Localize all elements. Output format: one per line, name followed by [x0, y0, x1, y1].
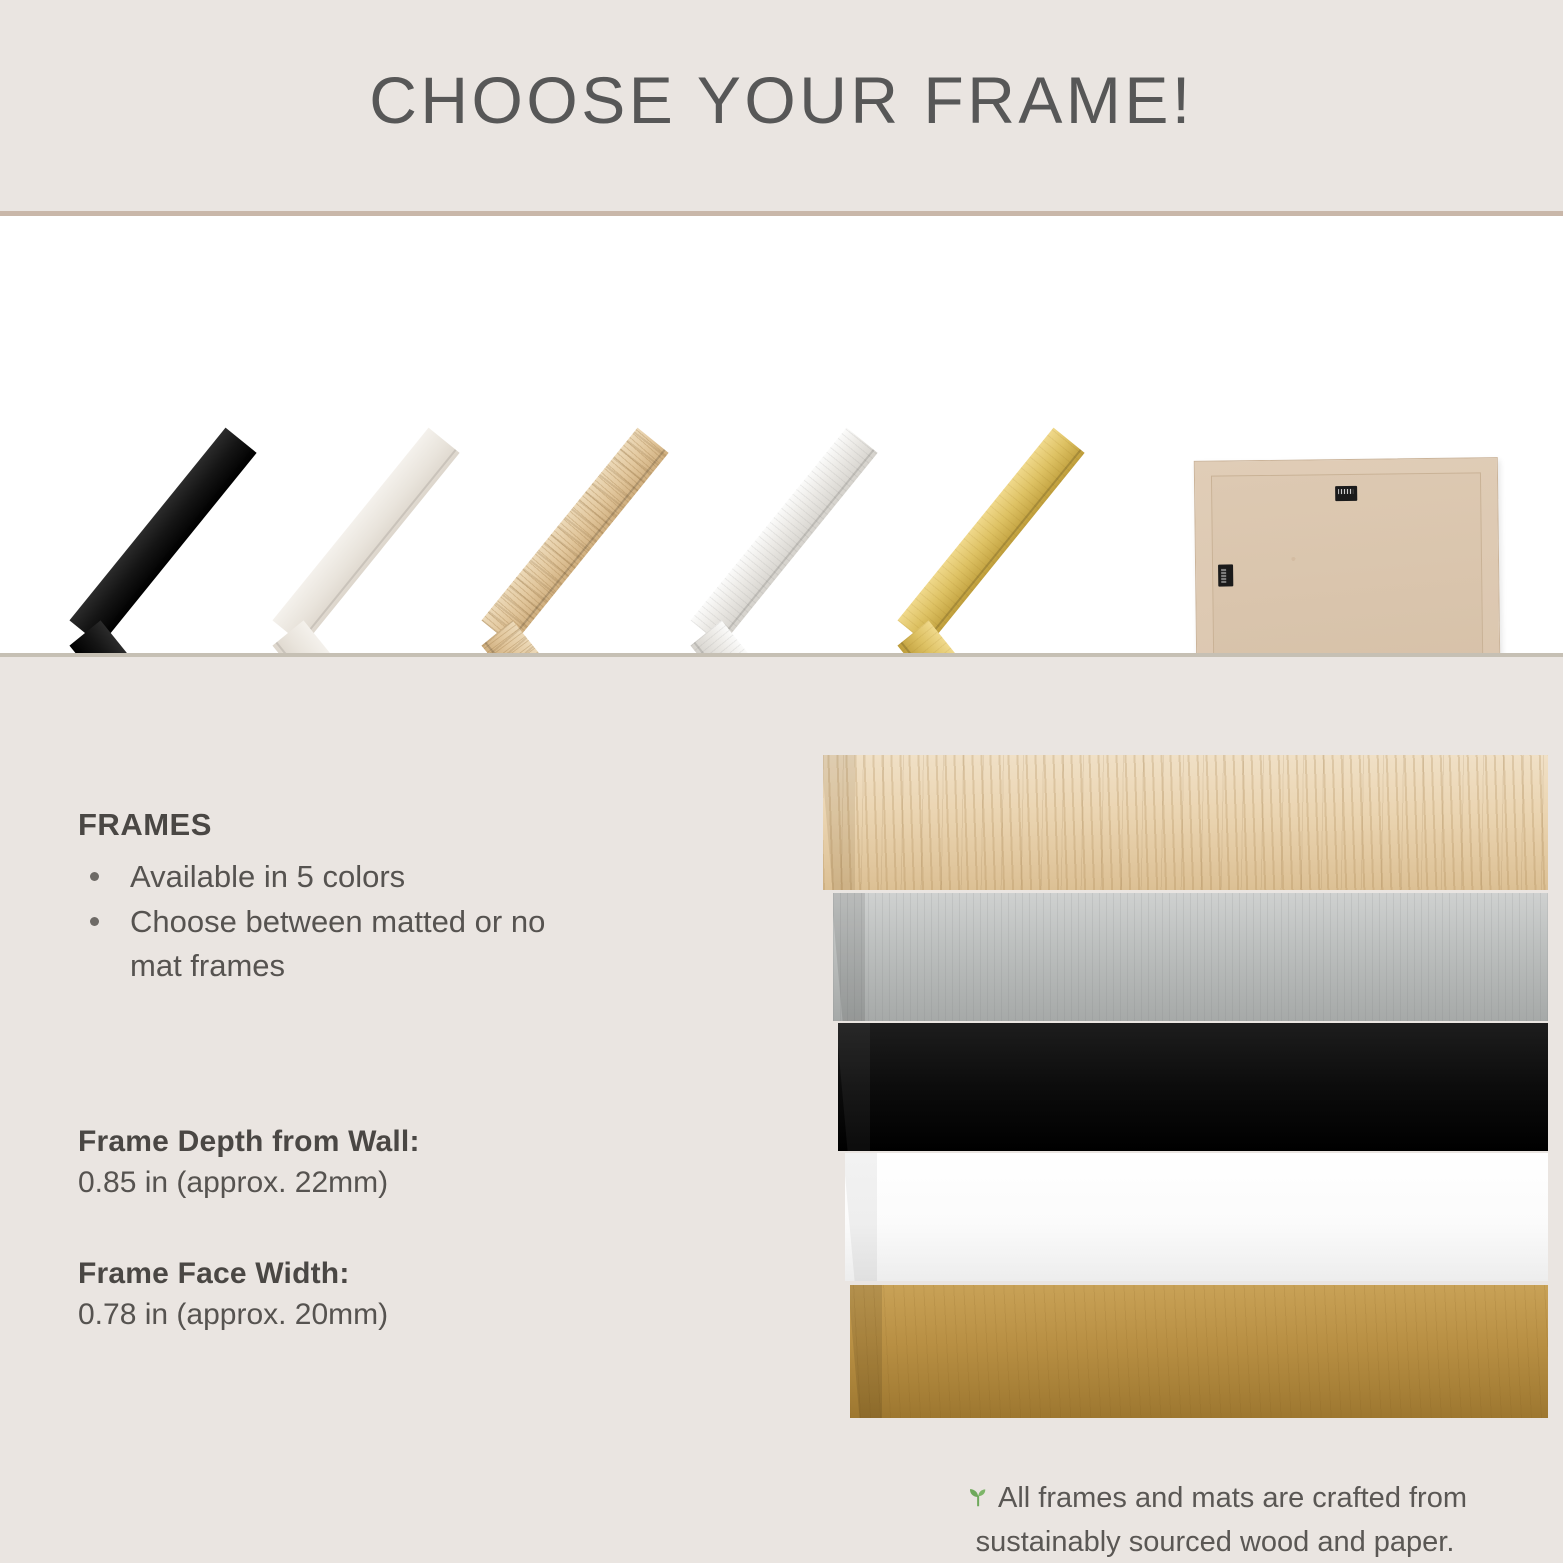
color-swatch-silver[interactable] [833, 893, 1548, 1021]
frame-depth-value: 0.85 in (approx. 22mm) [78, 1166, 578, 1200]
sawtooth-hanger-icon [1218, 564, 1233, 586]
color-swatch-black[interactable] [838, 1023, 1548, 1151]
list-item: Available in 5 colors [78, 855, 578, 898]
page-title: CHOOSE YOUR FRAME! [0, 62, 1563, 138]
sawtooth-hanger-icon [1335, 486, 1357, 501]
sustainability-text: All frames and mats are crafted from sus… [976, 1482, 1467, 1558]
frames-bullet-list: Available in 5 colors Choose between mat… [78, 855, 578, 987]
color-swatch-natural[interactable] [823, 755, 1548, 890]
infographic-page: CHOOSE YOUR FRAME! [0, 0, 1563, 1563]
corner-samples-band [0, 216, 1563, 653]
frame-depth-label: Frame Depth from Wall: [78, 1125, 578, 1159]
chevron-arm-upper [690, 428, 877, 646]
sprout-icon [963, 1480, 993, 1522]
frames-spec-block: FRAMES Available in 5 colors Choose betw… [78, 807, 578, 989]
chevron-arm-upper [272, 428, 459, 646]
color-swatch-gold[interactable] [850, 1285, 1548, 1418]
sustainability-note: All frames and mats are crafted from sus… [900, 1478, 1530, 1563]
chevron-arm-upper [481, 428, 668, 646]
frame-depth-block: Frame Depth from Wall: 0.85 in (approx. … [78, 1125, 578, 1200]
chevron-arm-upper [69, 428, 256, 646]
list-item: Choose between matted or no mat frames [78, 900, 578, 987]
frames-heading: FRAMES [78, 807, 578, 843]
color-swatch-white[interactable] [845, 1153, 1548, 1281]
frame-face-width-label: Frame Face Width: [78, 1257, 578, 1291]
chevron-arm-upper [897, 428, 1084, 646]
frame-width-block: Frame Face Width: 0.78 in (approx. 20mm) [78, 1257, 578, 1332]
frame-face-width-value: 0.78 in (approx. 20mm) [78, 1298, 578, 1332]
details-section: FRAMES Available in 5 colors Choose betw… [0, 657, 1563, 1563]
header-band: CHOOSE YOUR FRAME! [0, 0, 1563, 211]
